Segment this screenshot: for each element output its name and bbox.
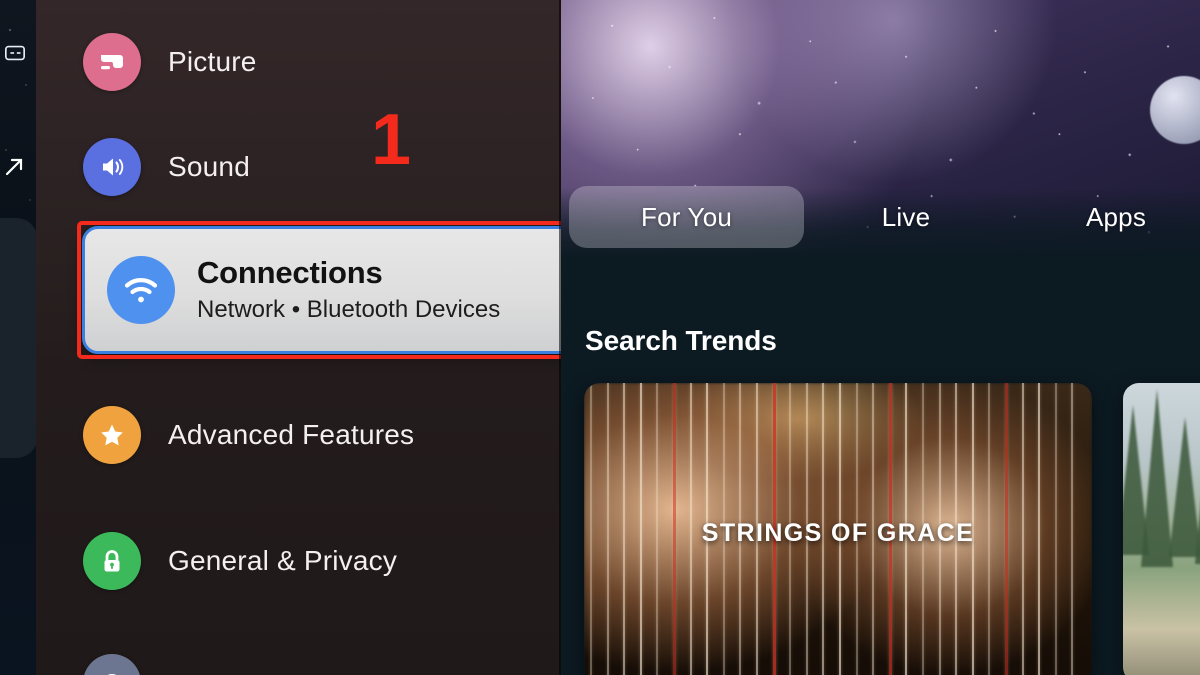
support-icon (83, 654, 141, 675)
tab-for-you[interactable]: For You (569, 186, 804, 248)
content-pane: For You Live Apps Search Trends STRINGS … (561, 0, 1200, 675)
display-picture-icon (83, 33, 141, 91)
tv-settings-screen: Picture Sound 1 (0, 0, 1200, 675)
tab-label: Live (882, 202, 931, 233)
trend-card[interactable]: STRINGS OF GRACE (584, 383, 1092, 675)
trend-card[interactable] (1123, 383, 1200, 675)
selected-item-subtitle: Network • Bluetooth Devices (197, 296, 500, 324)
tab-apps[interactable]: Apps (1041, 186, 1191, 248)
sidebar-item-label: General & Privacy (168, 545, 397, 577)
step-number-annotation: 1 (371, 104, 411, 176)
share-arrow-icon[interactable] (2, 155, 26, 179)
rail-panel-background (0, 218, 36, 458)
tabbar: For You Live Apps (561, 186, 1200, 248)
sidebar-item-sound[interactable]: Sound (36, 124, 561, 210)
sidebar-item-picture[interactable]: Picture (36, 19, 561, 105)
pane-divider (559, 0, 561, 675)
sidebar-item-general-privacy[interactable]: General & Privacy (36, 518, 561, 604)
sidebar-item-label: Picture (168, 46, 257, 78)
trend-card-title: STRINGS OF GRACE (584, 519, 1092, 548)
forest-artwork (1123, 383, 1200, 675)
sidebar-item-label: Advanced Features (168, 419, 414, 451)
speaker-icon (83, 138, 141, 196)
tab-live[interactable]: Live (851, 186, 961, 248)
tab-label: Apps (1086, 202, 1146, 233)
section-title: Search Trends (585, 325, 777, 357)
star-icon (83, 406, 141, 464)
sidebar-item-advanced-features[interactable]: Advanced Features (36, 392, 561, 478)
tab-label: For You (641, 202, 732, 233)
wifi-icon (107, 256, 175, 324)
sidebar-item-connections[interactable]: Connections Network • Bluetooth Devices (82, 226, 561, 354)
selected-item-title: Connections (197, 256, 500, 290)
forest-trees (1123, 383, 1200, 675)
sidebar-item-partial[interactable] (36, 640, 561, 675)
left-nav-rail (0, 0, 36, 675)
sidebar-item-label: Sound (168, 151, 250, 183)
lock-icon (83, 532, 141, 590)
settings-sidebar: Picture Sound 1 (36, 0, 561, 675)
captions-icon[interactable] (2, 42, 28, 64)
